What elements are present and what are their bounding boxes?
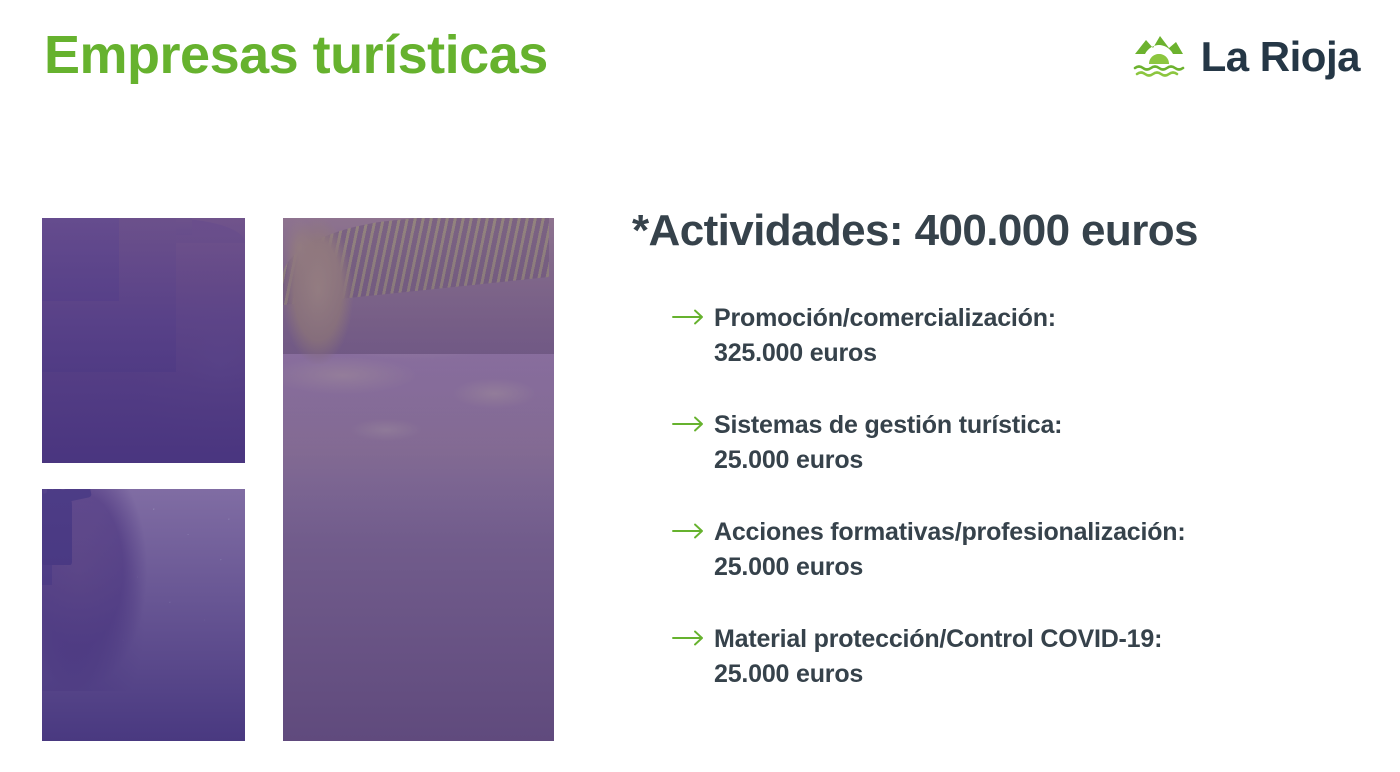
chapel-ground — [42, 218, 245, 463]
photo-chapel — [42, 218, 245, 463]
list-item-label: Acciones formativas/profesionalización: — [714, 518, 1186, 546]
list-item: Material protección/Control COVID-19: 25… — [672, 622, 1332, 693]
list-item-amount: 25.000 euros — [714, 657, 1162, 693]
brand-name: La Rioja — [1201, 36, 1360, 78]
arrow-right-icon — [672, 308, 714, 326]
arrow-right-icon — [672, 415, 714, 433]
list-item-label: Sistemas de gestión turística: — [714, 411, 1062, 439]
list-item-text: Acciones formativas/profesionalización: … — [714, 515, 1186, 586]
list-item-amount: 325.000 euros — [714, 336, 1056, 372]
list-item: Promoción/comercialización: 325.000 euro… — [672, 301, 1332, 372]
la-rioja-mountains-river-logo-icon — [1131, 32, 1187, 82]
brand-logo: La Rioja — [1131, 32, 1360, 82]
photo-collage — [42, 218, 554, 741]
list-item: Acciones formativas/profesionalización: … — [672, 515, 1332, 586]
arrow-right-icon — [672, 629, 714, 647]
content-column: *Actividades: 400.000 euros Promoción/co… — [632, 206, 1332, 693]
vineyard-foreground-shadow — [283, 218, 554, 741]
list-item-amount: 25.000 euros — [714, 550, 1186, 586]
list-item-text: Sistemas de gestión turística: 25.000 eu… — [714, 408, 1062, 479]
headline: *Actividades: 400.000 euros — [632, 206, 1332, 257]
photo-vineyard — [283, 218, 554, 741]
list-item-label: Promoción/comercialización: — [714, 304, 1056, 332]
night-ground — [42, 489, 245, 741]
list-item-amount: 25.000 euros — [714, 443, 1062, 479]
list-item-text: Promoción/comercialización: 325.000 euro… — [714, 301, 1056, 372]
list-item-text: Material protección/Control COVID-19: 25… — [714, 622, 1162, 693]
list-item-label: Material protección/Control COVID-19: — [714, 625, 1162, 653]
page-title: Empresas turísticas — [44, 26, 548, 85]
list-item: Sistemas de gestión turística: 25.000 eu… — [672, 408, 1332, 479]
photo-stargazing — [42, 489, 245, 741]
arrow-right-icon — [672, 522, 714, 540]
bullet-list: Promoción/comercialización: 325.000 euro… — [632, 301, 1332, 693]
slide-root: Empresas turísticas La Rioja — [0, 0, 1400, 772]
